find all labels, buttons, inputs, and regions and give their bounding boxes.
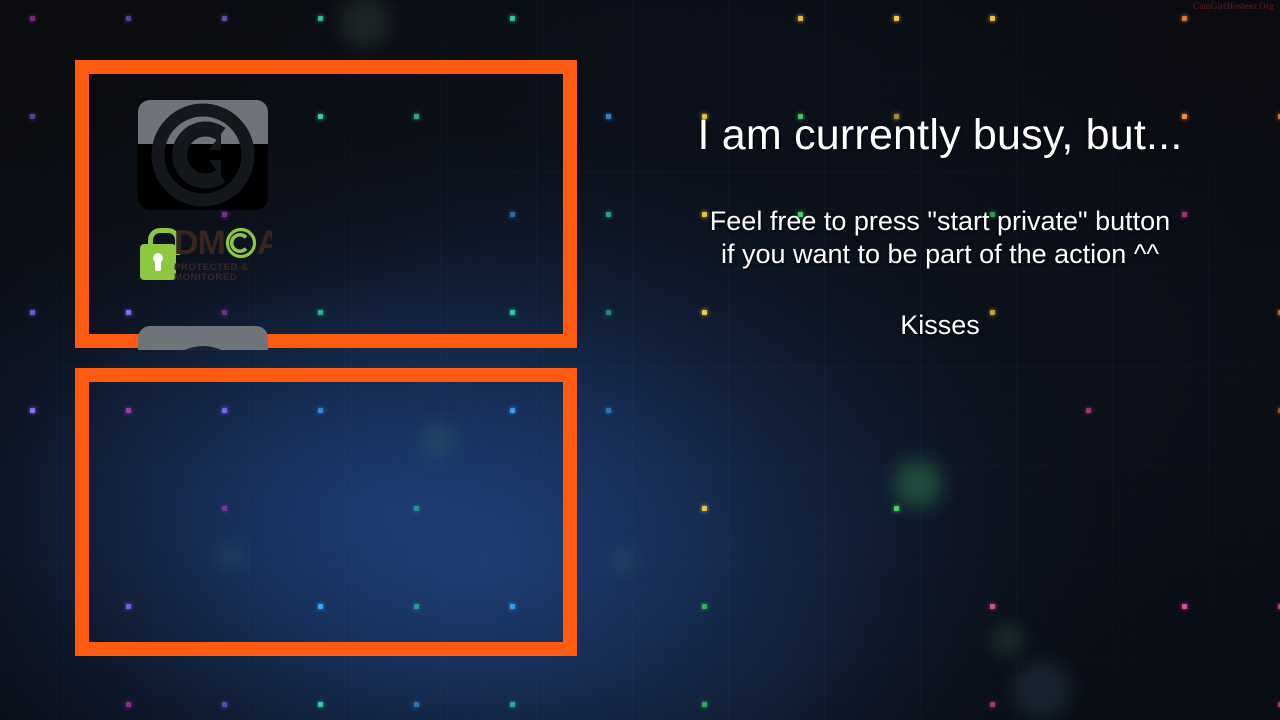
body-text-block: Feel free to press "start private" butto… xyxy=(640,205,1240,271)
dmca-letters-after: A xyxy=(257,226,272,260)
lock-icon xyxy=(140,228,176,280)
headline-text: I am currently busy, but... xyxy=(640,112,1240,158)
dmca-sub-text: PROTECTED & MONITORED xyxy=(174,263,272,282)
video-tile-bottom[interactable] xyxy=(75,368,577,656)
message-panel: I am currently busy, but... Feel free to… xyxy=(640,112,1240,341)
dmca-wordmark: DM A PROTECTED & MONITORED xyxy=(174,226,272,282)
copyright-circle-icon xyxy=(224,226,258,260)
dmca-letters-before: DM xyxy=(174,226,225,260)
thumbnail-stack: DM A PROTECTED & MONITORED xyxy=(138,100,272,350)
partial-tile-icon xyxy=(138,326,268,350)
video-tile-top[interactable]: DM A PROTECTED & MONITORED xyxy=(75,60,577,348)
body-line-1: Feel free to press "start private" butto… xyxy=(640,205,1240,238)
screen-root: DM A PROTECTED & MONITORED xyxy=(0,0,1280,720)
site-watermark: CamGirlHostess.Org xyxy=(1193,1,1274,11)
dmca-main-text: DM A xyxy=(174,226,272,260)
copyright-icon xyxy=(138,100,268,210)
dmca-badge: DM A PROTECTED & MONITORED xyxy=(138,223,272,285)
body-line-2: if you want to be part of the action ^^ xyxy=(640,238,1240,271)
signoff-text: Kisses xyxy=(640,310,1240,341)
